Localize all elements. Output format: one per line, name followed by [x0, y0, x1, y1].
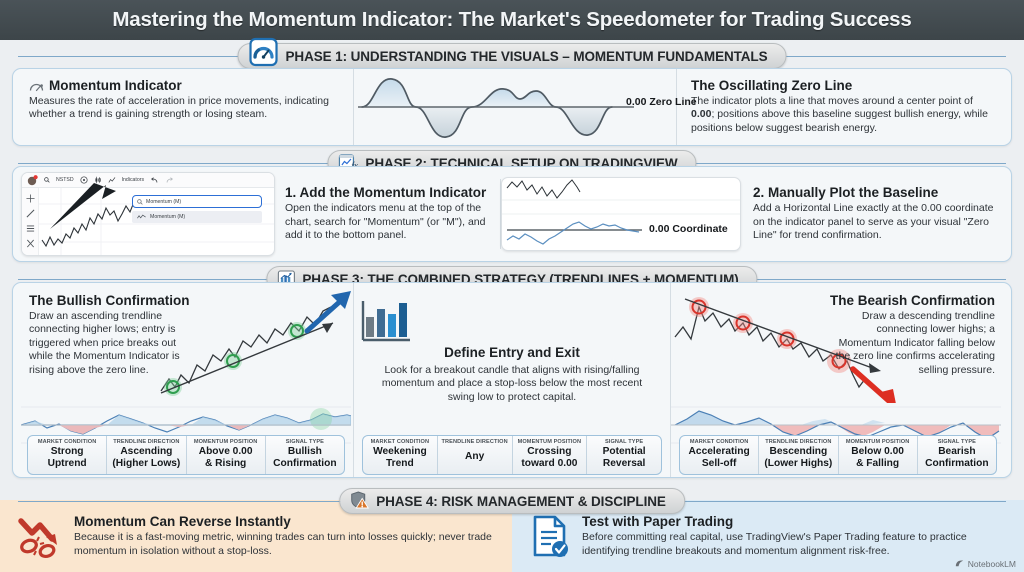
infographic-page: Mastering the Momentum Indicator: The Ma…: [0, 0, 1024, 572]
phase1-right-body: The indicator plots a line that moves ar…: [691, 95, 997, 135]
coordinate-screenshot: 0.00 Coordinate: [501, 177, 741, 251]
notebooklm-brand: NotebookLM: [954, 558, 1016, 569]
bullish-column: The Bullish Confirmation Draw an ascendi…: [13, 283, 353, 477]
tv-logo-icon: [27, 175, 38, 186]
table-cell: TRENDLINE DIRECTIONBescending (Lower Hig…: [758, 436, 837, 474]
tradingview-screenshot: NSTSD Indicators: [21, 172, 275, 256]
phase-4-label: PHASE 4: RISK MANAGEMENT & DISCIPLINE: [376, 494, 666, 509]
momentum-indicator-block: Momentum Indicator Measures the rate of …: [13, 69, 353, 145]
notebooklm-label: NotebookLM: [968, 559, 1016, 569]
cell-value: Crossing toward 0.00: [515, 446, 585, 469]
cell-value: Bescending (Lower Highs): [761, 446, 835, 469]
table-cell: MOMENTUM POSITIONAbove 0.00 & Rising: [186, 436, 265, 474]
coordinate-chart: [502, 178, 740, 248]
step-2-block: 2. Manually Plot the Baseline Add a Hori…: [741, 185, 1011, 242]
table-cell: MARKET CONDITIONStrong Uptrend: [28, 436, 106, 474]
bullish-heading: The Bullish Confirmation: [29, 293, 194, 308]
cell-value: Bearish Confirmation: [920, 446, 994, 469]
cell-value: Accelerating Sell-off: [682, 446, 756, 469]
fib-tool-icon[interactable]: [26, 239, 35, 248]
phase-4-header: PHASE 4: RISK MANAGEMENT & DISCIPLINE: [0, 488, 1024, 514]
bearish-heading: The Bearish Confirmation: [825, 293, 995, 308]
table-row: MARKET CONDITIONWeekening Trend TRENDLIN…: [362, 435, 662, 475]
cell-value: Above 0.00 & Rising: [189, 446, 263, 469]
zero-line-chart: 0.00 Zero Line: [353, 69, 677, 145]
speedometer-icon: [249, 37, 279, 67]
search-icon: [137, 199, 143, 205]
crosshair-icon[interactable]: [26, 194, 35, 203]
indicator-search-input[interactable]: Momentum (M): [132, 195, 262, 208]
shield-warning-icon: [350, 491, 369, 509]
table-cell: TRENDLINE DIRECTIONAny: [437, 436, 512, 474]
tv-redo-icon[interactable]: [165, 177, 174, 184]
cell-value: Below 0.00 & Falling: [841, 446, 915, 469]
indicator-search-popup[interactable]: Momentum (M) Momentum (M): [132, 195, 262, 223]
entry-exit-column: Define Entry and Exit Look for a breakou…: [353, 283, 671, 477]
phase1-left-heading: Momentum Indicator: [49, 78, 182, 93]
table-cell: MOMENTUM POSITIONBelow 0.00 & Falling: [838, 436, 917, 474]
cell-value: Any: [440, 446, 510, 462]
risk-right-heading: Test with Paper Trading: [582, 514, 1008, 529]
step2-body: Add a Horizontal Line exactly at the 0.0…: [753, 202, 999, 242]
reversal-table: MARKET CONDITIONWeekening Trend TRENDLIN…: [362, 435, 662, 475]
indicator-result-row[interactable]: Momentum (M): [132, 211, 262, 223]
cell-value: Strong Uptrend: [30, 446, 104, 469]
step-1-block: 1. Add the Momentum Indicator Open the i…: [275, 185, 500, 242]
indicator-search-value: Momentum (M): [146, 199, 181, 205]
risk-left-heading: Momentum Can Reverse Instantly: [74, 514, 496, 529]
step1-body: Open the indicators menu at the top of t…: [285, 202, 492, 242]
phase-2-card: NSTSD Indicators: [12, 166, 1012, 262]
table-cell: SIGNAL TYPEPotential Reversal: [586, 436, 661, 474]
phase1-left-body: Measures the rate of acceleration in pri…: [29, 95, 343, 122]
entry-exit-icon: [354, 295, 670, 347]
entry-exit-heading: Define Entry and Exit: [368, 345, 656, 360]
bullish-table: MARKET CONDITIONStrong Uptrend TRENDLINE…: [27, 435, 345, 475]
coordinate-label: 0.00 Coordinate: [649, 223, 728, 235]
phase1-right-heading: The Oscillating Zero Line: [691, 78, 997, 93]
phase-1-card: Momentum Indicator Measures the rate of …: [12, 68, 1012, 146]
cell-value: Potential Reversal: [589, 446, 659, 469]
table-cell: MOMENTUM POSITIONCrossing toward 0.00: [512, 436, 587, 474]
cell-value: Ascending (Higher Lows): [109, 446, 183, 469]
phase-1-pill: PHASE 1: UNDERSTANDING THE VISUALS – MOM…: [238, 43, 787, 69]
phase-4-pill: PHASE 4: RISK MANAGEMENT & DISCIPLINE: [339, 488, 685, 514]
step1-heading: 1. Add the Momentum Indicator: [285, 185, 492, 200]
bearish-table: MARKET CONDITIONAccelerating Sell-off TR…: [679, 435, 997, 475]
bearish-body: Draw a descending trendline connecting l…: [825, 310, 995, 377]
entry-exit-body: Look for a breakout candle that aligns w…: [368, 364, 656, 404]
indicator-result-label: Momentum (M): [150, 214, 185, 220]
table-cell: MARKET CONDITIONWeekening Trend: [363, 436, 437, 474]
tv-drawing-toolbar[interactable]: [22, 188, 39, 255]
table-cell: SIGNAL TYPEBearish Confirmation: [917, 436, 996, 474]
trendline-tool-icon[interactable]: [26, 209, 35, 218]
tv-indicators-label[interactable]: Indicators: [122, 177, 145, 183]
gauge-small-icon: [29, 81, 44, 93]
oscillating-zero-line-block: The Oscillating Zero Line The indicator …: [677, 69, 1011, 145]
phase-1-label: PHASE 1: UNDERSTANDING THE VISUALS – MOM…: [286, 49, 768, 64]
cell-value: Weekening Trend: [365, 446, 435, 469]
indicator-line-icon: [137, 214, 146, 220]
table-cell: SIGNAL TYPEBullish Confirmation: [265, 436, 344, 474]
table-cell: MARKET CONDITIONAccelerating Sell-off: [680, 436, 758, 474]
pointer-arrow-icon: [44, 181, 124, 233]
table-row: MARKET CONDITIONAccelerating Sell-off TR…: [679, 435, 997, 475]
table-cell: TRENDLINE DIRECTIONAscending (Higher Low…: [106, 436, 185, 474]
horizontal-lines-tool-icon[interactable]: [26, 224, 35, 233]
step2-heading: 2. Manually Plot the Baseline: [753, 185, 999, 200]
page-title: Mastering the Momentum Indicator: The Ma…: [112, 8, 911, 32]
title-bar: Mastering the Momentum Indicator: The Ma…: [0, 0, 1024, 40]
bullish-body: Draw an ascending trendline connecting h…: [29, 310, 194, 377]
bearish-column: The Bearish Confirmation Draw a descendi…: [671, 283, 1011, 477]
risk-left-body: Because it is a fast-moving metric, winn…: [74, 531, 496, 558]
broken-chain-down-arrow-icon: [16, 513, 64, 559]
tv-undo-icon[interactable]: [150, 177, 159, 184]
phase-1-header: PHASE 1: UNDERSTANDING THE VISUALS – MOM…: [0, 43, 1024, 69]
zero-line-label: 0.00 Zero Line: [626, 96, 697, 108]
document-check-icon: [528, 513, 572, 559]
cell-value: Bullish Confirmation: [268, 446, 342, 469]
risk-right-body: Before committing real capital, use Trad…: [582, 531, 1008, 558]
notebooklm-icon: [954, 558, 965, 569]
table-row: MARKET CONDITIONStrong Uptrend TRENDLINE…: [27, 435, 345, 475]
phase-3-card: The Bullish Confirmation Draw an ascendi…: [12, 282, 1012, 478]
